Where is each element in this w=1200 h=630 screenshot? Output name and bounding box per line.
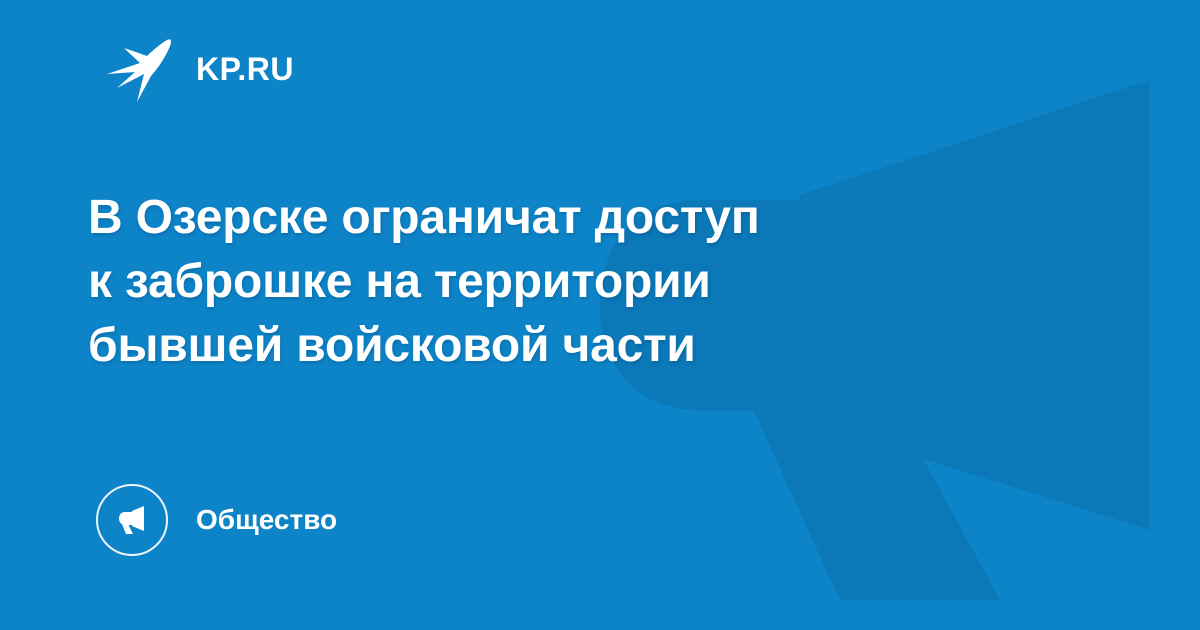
headline-line-1: В Озерске ограничат доступ: [88, 186, 968, 250]
news-share-card: KP.RU В Озерске ограничат доступ к забро…: [0, 0, 1200, 630]
headline: В Озерске ограничат доступ к заброшке на…: [88, 186, 968, 378]
category-label: Общество: [196, 506, 337, 534]
megaphone-icon: [96, 484, 168, 556]
category-badge[interactable]: Общество: [96, 484, 337, 556]
brand-name: KP.RU: [196, 53, 294, 85]
swallow-bird-icon: [104, 36, 178, 102]
headline-line-2: к заброшке на территории: [88, 250, 968, 314]
brand-logo[interactable]: KP.RU: [104, 36, 294, 102]
headline-line-3: бывшей войсковой части: [88, 314, 968, 378]
